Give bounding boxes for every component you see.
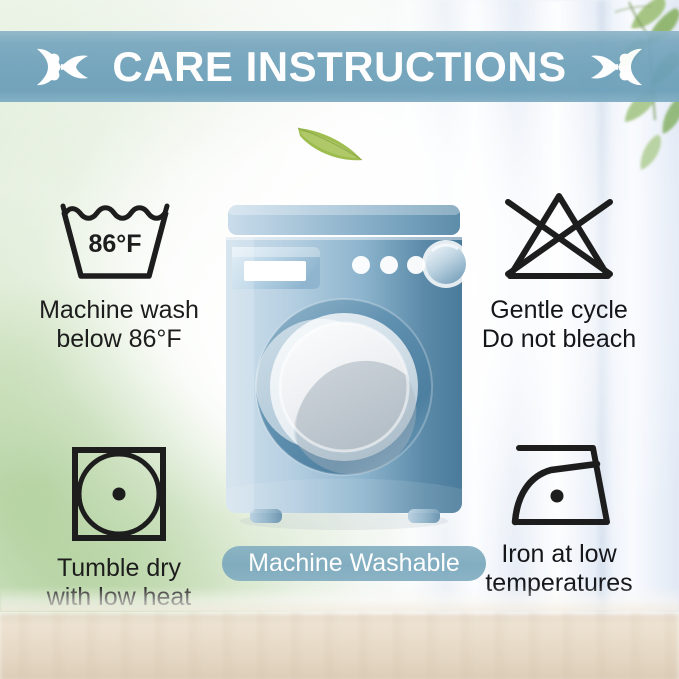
- iron-icon: [497, 440, 621, 530]
- badge-label: Machine Washable: [248, 551, 460, 576]
- header-banner: CARE INSTRUCTIONS: [0, 31, 679, 102]
- care-symbol-iron: Iron at low temperatures: [454, 440, 664, 599]
- fleur-de-lis-ornament-icon: [32, 45, 90, 89]
- crossed-triangle-bleach-icon: [500, 188, 618, 286]
- wash-temperature-value: 86°F: [88, 230, 141, 258]
- tumble-dry-square-icon: [69, 444, 169, 544]
- wood-grain-texture: [0, 612, 679, 679]
- care-label-gentle-cycle-no-bleach: Gentle cycle Do not bleach: [482, 296, 636, 355]
- care-label-machine-wash: Machine wash below 86°F: [39, 296, 199, 355]
- care-instructions-infographic: CARE INSTRUCTIONS 86°F Machine wash belo…: [0, 0, 679, 679]
- floating-leaf-icon: [296, 122, 364, 164]
- table-haze: [0, 586, 679, 612]
- care-symbol-machine-wash: 86°F Machine wash below 86°F: [14, 194, 224, 355]
- fleur-de-lis-ornament-icon: [589, 45, 647, 89]
- wash-tub-icon: 86°F: [55, 194, 183, 286]
- page-title: CARE INSTRUCTIONS: [112, 46, 566, 88]
- control-dot: [380, 256, 398, 274]
- care-symbol-gentle-cycle-no-bleach: Gentle cycle Do not bleach: [454, 188, 664, 355]
- machine-washable-badge: Machine Washable: [222, 546, 486, 581]
- wooden-table-surface: [0, 612, 679, 679]
- control-dot: [352, 256, 370, 274]
- washing-machine-illustration: [218, 203, 470, 537]
